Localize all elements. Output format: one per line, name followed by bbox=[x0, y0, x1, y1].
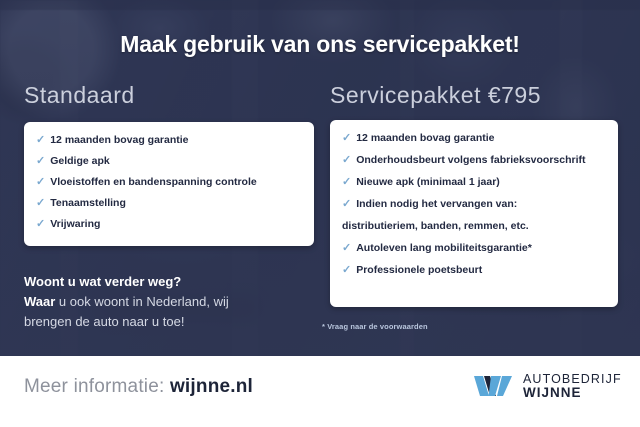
check-icon: ✓ bbox=[36, 215, 45, 233]
list-item-label: Autoleven lang mobiliteitsgarantie* bbox=[356, 239, 608, 257]
promo-emphasis: Waar bbox=[24, 294, 55, 309]
promo-question: Woont u wat verder weg? bbox=[24, 272, 314, 292]
check-icon: ✓ bbox=[342, 195, 351, 213]
promo-body-line2: brengen de auto naar u toe! bbox=[24, 312, 314, 332]
check-icon: ✓ bbox=[342, 173, 351, 191]
banner-headline: Maak gebruik van ons servicepakket! bbox=[0, 31, 640, 58]
list-item: ✓ Nieuwe apk (minimaal 1 jaar) bbox=[330, 173, 618, 191]
logo-wordmark: AUTOBEDRIJF WIJNNE bbox=[523, 373, 622, 400]
list-item: ✓ Onderhoudsbeurt volgens fabrieksvoorsc… bbox=[330, 151, 618, 169]
list-item-label: Onderhoudsbeurt volgens fabrieksvoorschr… bbox=[356, 151, 608, 169]
banner-footer: Meer informatie: wijnne.nl AUTOBEDRIJF W… bbox=[0, 356, 640, 427]
list-item-label: Nieuwe apk (minimaal 1 jaar) bbox=[356, 173, 608, 191]
list-item-label: Geldige apk bbox=[50, 152, 304, 170]
more-info-text: Meer informatie: wijnne.nl bbox=[24, 376, 253, 398]
list-item: ✓ 12 maanden bovag garantie bbox=[330, 129, 618, 147]
promo-body-rest: u ook woont in Nederland, wij bbox=[55, 294, 228, 309]
list-item: ✓ Autoleven lang mobiliteitsgarantie* bbox=[330, 239, 618, 257]
more-info-label: Meer informatie: bbox=[24, 376, 170, 397]
check-icon: ✓ bbox=[36, 194, 45, 212]
logo-line-wijnne: WIJNNE bbox=[523, 386, 622, 400]
service-package-card: ✓ 12 maanden bovag garantie ✓ Onderhouds… bbox=[330, 120, 618, 307]
website-link[interactable]: wijnne.nl bbox=[170, 376, 253, 397]
check-icon: ✓ bbox=[36, 173, 45, 191]
check-icon: ✓ bbox=[342, 129, 351, 147]
list-item-label: 12 maanden bovag garantie bbox=[50, 131, 304, 149]
standard-package-card: ✓ 12 maanden bovag garantie ✓ Geldige ap… bbox=[24, 122, 314, 246]
check-icon: ✓ bbox=[342, 239, 351, 257]
check-icon: ✓ bbox=[36, 152, 45, 170]
list-item-label: 12 maanden bovag garantie bbox=[356, 129, 608, 147]
list-item-label: Professionele poetsbeurt bbox=[356, 261, 608, 279]
list-item: ✓ 12 maanden bovag garantie bbox=[24, 131, 314, 149]
service-feature-list: ✓ 12 maanden bovag garantie ✓ Onderhouds… bbox=[330, 120, 618, 279]
list-item-sub-label: distributieriem, banden, remmen, etc. bbox=[330, 217, 618, 235]
check-icon: ✓ bbox=[36, 131, 45, 149]
list-item-label: Vloeistoffen en bandenspanning controle bbox=[50, 173, 304, 191]
list-item: ✓ Indien nodig het vervangen van: bbox=[330, 195, 618, 213]
standard-column-heading: Standaard bbox=[24, 82, 135, 109]
list-item: ✓ Professionele poetsbeurt bbox=[330, 261, 618, 279]
delivery-promo: Woont u wat verder weg? Waar u ook woont… bbox=[24, 272, 314, 332]
service-column-heading: Servicepakket €795 bbox=[330, 82, 541, 109]
check-icon: ✓ bbox=[342, 261, 351, 279]
wijnne-w-logo-icon bbox=[472, 373, 514, 399]
list-item: ✓ Geldige apk bbox=[24, 152, 314, 170]
banner-content: Maak gebruik van ons servicepakket! Stan… bbox=[0, 0, 640, 356]
list-item-label: Tenaamstelling bbox=[50, 194, 304, 212]
list-item: ✓ Tenaamstelling bbox=[24, 194, 314, 212]
check-icon: ✓ bbox=[342, 151, 351, 169]
list-item: ✓ Vloeistoffen en bandenspanning control… bbox=[24, 173, 314, 191]
terms-footnote: * Vraag naar de voorwaarden bbox=[322, 322, 428, 331]
company-logo[interactable]: AUTOBEDRIJF WIJNNE bbox=[472, 373, 622, 400]
list-item: ✓ Vrijwaring bbox=[24, 215, 314, 233]
promo-body-line1: Waar u ook woont in Nederland, wij bbox=[24, 292, 314, 312]
standard-feature-list: ✓ 12 maanden bovag garantie ✓ Geldige ap… bbox=[24, 122, 314, 233]
logo-line-autobedrijf: AUTOBEDRIJF bbox=[523, 373, 622, 386]
list-item-label: Indien nodig het vervangen van: bbox=[356, 195, 608, 213]
list-item-label: Vrijwaring bbox=[50, 215, 304, 233]
service-package-banner: Maak gebruik van ons servicepakket! Stan… bbox=[0, 0, 640, 427]
